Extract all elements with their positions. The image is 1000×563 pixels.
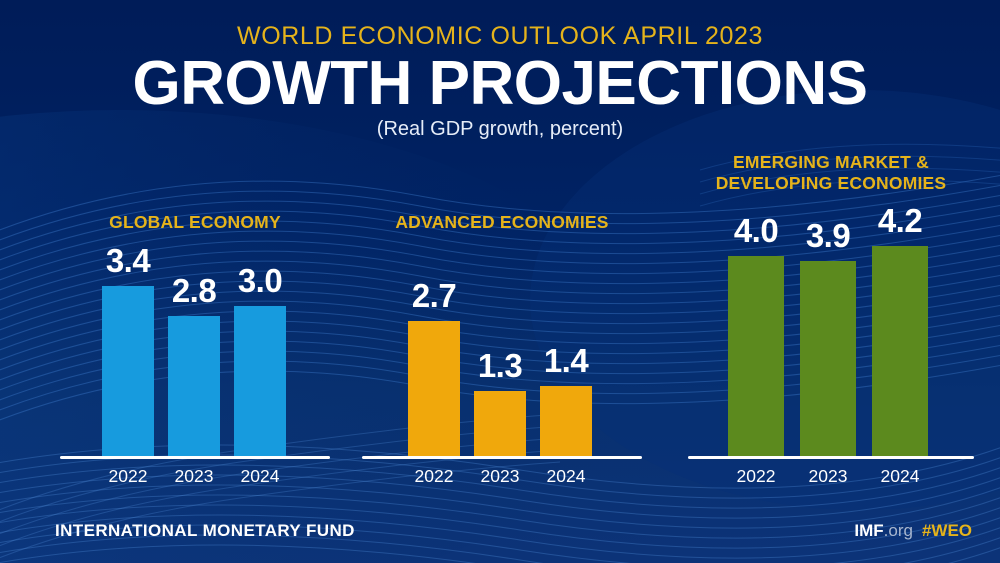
imf-wordmark[interactable]: IMF [854, 521, 883, 540]
chart-bar [168, 316, 220, 456]
chart-baseline-axis [362, 456, 642, 459]
chart-panel: GLOBAL ECONOMY3.420222.820233.02024 [60, 0, 330, 563]
chart-bar [872, 246, 928, 456]
chart-bar [408, 321, 460, 456]
chart-bar [800, 261, 856, 456]
chart-bar-value: 2.7 [389, 277, 479, 315]
chart-bar [234, 306, 286, 456]
chart-bar-value: 1.4 [521, 342, 611, 380]
chart-bar [540, 386, 592, 456]
chart-title: GLOBAL ECONOMY [60, 212, 330, 233]
chart-title: ADVANCED ECONOMIES [362, 212, 642, 233]
chart-bar [474, 391, 526, 456]
chart-bar [728, 256, 784, 456]
weo-hashtag[interactable]: #WEO [922, 521, 972, 540]
chart-bar [102, 286, 154, 456]
chart-bar-value: 3.0 [215, 262, 305, 300]
imf-org-tld[interactable]: .org [884, 521, 913, 540]
chart-panel: EMERGING MARKET & DEVELOPING ECONOMIES4.… [688, 0, 974, 563]
chart-x-label: 2024 [855, 466, 945, 487]
chart-x-label: 2024 [215, 466, 305, 487]
chart-bar-value: 4.2 [855, 202, 945, 240]
footer-links: IMF.org#WEO [854, 521, 972, 541]
footer-organization: INTERNATIONAL MONETARY FUND [55, 521, 355, 541]
chart-baseline-axis [60, 456, 330, 459]
chart-title: EMERGING MARKET & DEVELOPING ECONOMIES [688, 152, 974, 195]
chart-x-label: 2024 [521, 466, 611, 487]
chart-baseline-axis [688, 456, 974, 459]
chart-panel: ADVANCED ECONOMIES2.720221.320231.42024 [362, 0, 642, 563]
